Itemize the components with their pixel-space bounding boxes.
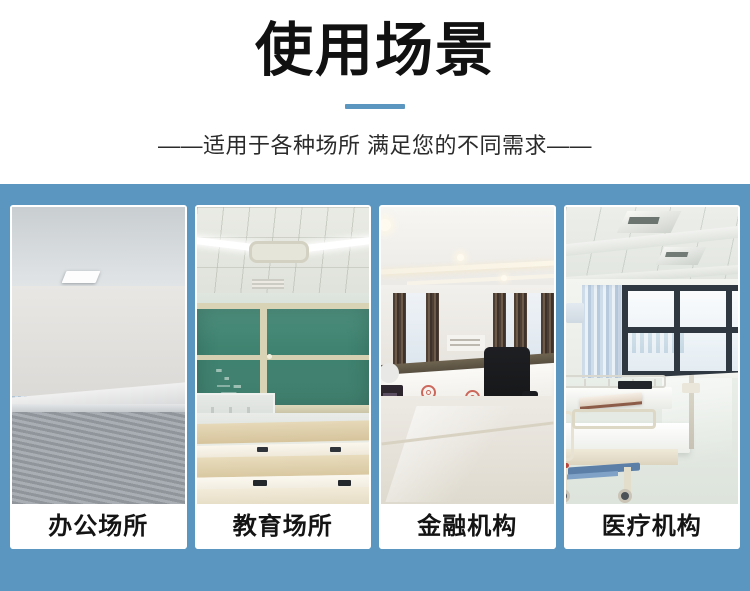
- title-accent-bar: [345, 104, 405, 109]
- page-subtitle: ——适用于各种场所 满足您的不同需求——: [0, 130, 750, 162]
- hospital-ceiling-vent-2: [655, 247, 706, 265]
- bank-counter-sign: [447, 335, 485, 351]
- classroom-desk-clip-1: [257, 447, 268, 452]
- scenario-card-office[interactable]: 办公场所: [10, 205, 187, 549]
- bank-marble-floor: [381, 396, 554, 504]
- scenario-card-list: 办公场所: [10, 205, 740, 549]
- office-panel-light-icon: [62, 271, 101, 283]
- hospital-bed-caster-2-icon: [618, 489, 632, 503]
- hospital-bed-control-indicator: [566, 463, 569, 468]
- scenario-card-medical[interactable]: 医疗机构: [564, 205, 741, 549]
- page-title: 使用场景: [0, 16, 750, 86]
- bank-floor-reflection: [385, 406, 546, 502]
- chalkboard-knob: [267, 354, 272, 359]
- hospital-iv-pole: [689, 375, 694, 449]
- chalkboard-frame-middle: [197, 355, 370, 360]
- hospital-bed-front-siderail: [572, 409, 656, 429]
- classroom-desk-clip-4: [338, 480, 351, 486]
- scenario-label-finance: 金融机构: [381, 504, 554, 549]
- bank-photo: [381, 207, 554, 504]
- hospital-wall-fixture: [566, 303, 584, 323]
- hospital-bed-front: [566, 405, 680, 501]
- bank-downlight-2-icon: [457, 254, 464, 261]
- classroom-photo: [197, 207, 370, 504]
- scenario-label-education: 教育场所: [197, 504, 370, 549]
- scenario-label-medical: 医疗机构: [566, 504, 739, 549]
- classroom-desk-clip-3: [253, 480, 267, 486]
- scenarios-band: 办公场所: [0, 184, 750, 591]
- office-floor: [12, 286, 185, 396]
- bank-ceiling-soffit: [381, 207, 554, 285]
- scenario-card-education[interactable]: 教育场所: [195, 205, 372, 549]
- hospital-bed-caster-1-icon: [566, 489, 570, 503]
- usage-scenarios-page: 使用场景 ——适用于各种场所 满足您的不同需求——: [0, 0, 750, 591]
- classroom-ceiling-vent: [249, 241, 309, 263]
- scenario-card-finance[interactable]: 金融机构: [379, 205, 556, 549]
- hospital-window: [622, 285, 739, 377]
- page-header: 使用场景 ——适用于各种场所 满足您的不同需求——: [0, 0, 750, 184]
- hospital-window-mullion-h2: [622, 327, 739, 333]
- hospital-bed-dark-panel: [618, 381, 652, 389]
- classroom-bench-row-1: [197, 420, 370, 444]
- chalkboard-frame-top: [197, 303, 370, 309]
- scenario-label-office: 办公场所: [12, 504, 185, 549]
- hospital-privacy-curtain: [582, 285, 622, 379]
- classroom-bench-row-3: [197, 487, 370, 504]
- classroom-projector: [252, 279, 284, 289]
- office-photo: [12, 207, 185, 504]
- bank-curtain-1: [393, 293, 406, 365]
- bank-downlight-3-icon: [501, 275, 507, 281]
- hospital-bed-front-frame: [566, 449, 678, 465]
- office-foreground-panel: [12, 404, 185, 504]
- classroom-desk-clip-2: [330, 447, 341, 452]
- bank-curtain-2: [426, 293, 439, 365]
- hospital-photo: [566, 207, 739, 504]
- classroom-bench-rows: [197, 412, 370, 504]
- hospital-window-mullion-h1: [622, 285, 739, 291]
- hospital-ceiling-vent-1: [616, 211, 681, 233]
